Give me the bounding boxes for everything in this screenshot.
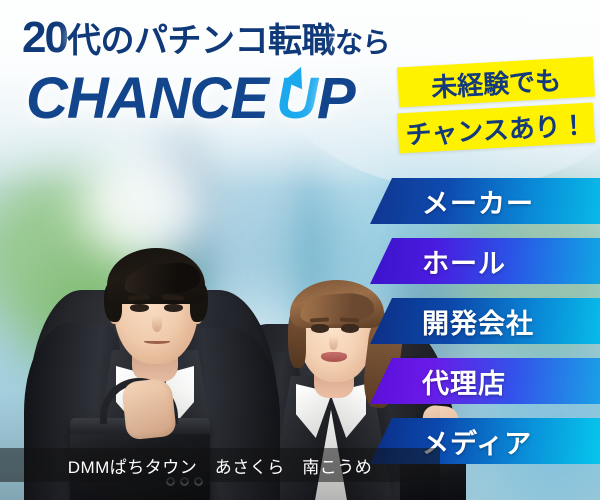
man-eye-right [164, 304, 183, 312]
category-button-agency[interactable]: 代理店 [370, 358, 600, 404]
category-button-hall[interactable]: ホール [370, 238, 600, 284]
woman-eye-right [341, 324, 359, 333]
man-nose [152, 316, 162, 332]
woman-eye-left [311, 324, 329, 333]
headline: 20代のパチンコ転職なら [22, 16, 390, 60]
category-label-maker: メーカー [422, 182, 534, 221]
category-label-agency: 代理店 [422, 362, 506, 401]
man-hand [121, 378, 177, 441]
man-eye-left [130, 304, 149, 312]
chance-up-logo: CHANCEUP [26, 70, 355, 128]
category-button-maker[interactable]: メーカー [370, 178, 600, 224]
woman-mouth [321, 352, 347, 362]
logo-chance-text: CHANCE [26, 66, 268, 131]
chance-up-banner: 20代のパチンコ転職なら CHANCEUP 未経験でも チャンスあり！ メーカー… [0, 0, 600, 500]
category-label-developer: 開発会社 [422, 302, 534, 341]
woman-nose [329, 336, 338, 350]
man-hand-and-bag [70, 380, 220, 500]
headline-main: 代のパチンコ転職 [67, 22, 335, 60]
category-button-developer[interactable]: 開発会社 [370, 298, 600, 344]
headline-number: 20 [22, 13, 67, 62]
category-label-hall: ホール [422, 242, 506, 281]
category-list: メーカー ホール 開発会社 代理店 メディア [370, 178, 600, 464]
logo-p-letter: P [317, 66, 355, 131]
logo-up-group: UP [276, 70, 355, 128]
man-mouth [144, 339, 170, 344]
headline-tail: なら [335, 27, 390, 58]
credit-caption: DMMぱちタウン あさくら 南こうめ [0, 448, 440, 482]
